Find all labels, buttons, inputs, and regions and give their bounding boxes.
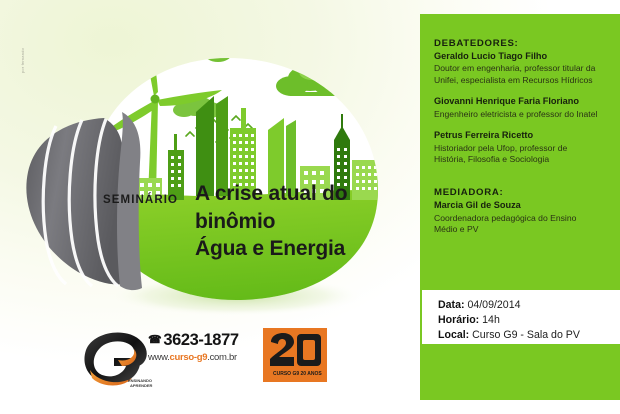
event-date-label: Data: [438,299,465,311]
footer: ENSINANDO APRENDER ☎3623-1877 www.curso-… [0,318,410,414]
speaker-entry: Geraldo Lucio Tiago Filho Doutor em enge… [434,51,600,86]
event-time-value: 14h [482,314,500,326]
event-time: Horário: 14h [438,313,620,328]
mediadora-heading: MEDIADORA: [434,187,600,199]
phone-number-text: 3623-1877 [163,331,238,349]
mediator-name: Marcia Gil de Souza [434,200,600,212]
speaker-role: Historiador pela Ufop, professor de Hist… [434,143,600,166]
page-title: A crise atual do binômio Água e Energia [195,180,347,263]
g9-tagline-line2: APRENDER [130,383,153,388]
title-line-2: binômio [195,208,347,236]
anniversary-caption: CURSO G9 20 ANOS [273,371,322,377]
anniversary-logo: CURSO G9 20 ANOS [263,328,327,382]
speaker-name: Petrus Ferreira Ricetto [434,130,600,142]
event-time-label: Horário: [438,314,479,326]
mediator-entry: Marcia Gil de Souza Coordenadora pedagóg… [434,200,600,235]
event-place: Local: Curso G9 - Sala do PV [438,328,620,343]
speaker-role: Engenheiro eletricista e professor do In… [434,109,600,120]
poster-canvas: por fernando SEMINÁRIO A crise atual do … [0,0,620,414]
event-place-label: Local: [438,329,469,341]
event-details-band: Data: 04/09/2014 Horário: 14h Local: Cur… [422,290,620,344]
mediator-role: Coordenadora pedagógica do Ensino Médio … [434,213,600,236]
website-suffix: .com.br [207,352,237,363]
speaker-role: Doutor em engenharia, professor titular … [434,63,600,86]
title-line-3: Água e Energia [195,235,347,263]
speaker-name: Giovanni Henrique Faria Floriano [434,96,600,108]
website-highlight: curso-g9 [170,352,208,363]
section-spacer [434,175,600,187]
event-place-value: Curso G9 - Sala do PV [472,329,580,341]
speaker-entry: Giovanni Henrique Faria Floriano Engenhe… [434,96,600,120]
cloud-left [175,37,232,62]
phone-number: ☎3623-1877 [148,332,258,349]
seminar-label: SEMINÁRIO [103,194,178,206]
designer-credit: por fernando [20,48,25,73]
website-url[interactable]: www.curso-g9.com.br [148,352,258,363]
debatedores-heading: DEBATEDORES: [434,38,600,50]
event-date-value: 04/09/2014 [467,299,520,311]
phone-icon: ☎ [148,334,161,346]
website-prefix: www. [148,352,170,363]
event-date: Data: 04/09/2014 [438,298,620,313]
speaker-entry: Petrus Ferreira Ricetto Historiador pela… [434,130,600,165]
g9-logo: ENSINANDO APRENDER [74,326,156,392]
contact-block: ☎3623-1877 www.curso-g9.com.br [148,332,258,363]
title-line-1: A crise atual do [195,180,347,208]
speaker-name: Geraldo Lucio Tiago Filho [434,51,600,63]
